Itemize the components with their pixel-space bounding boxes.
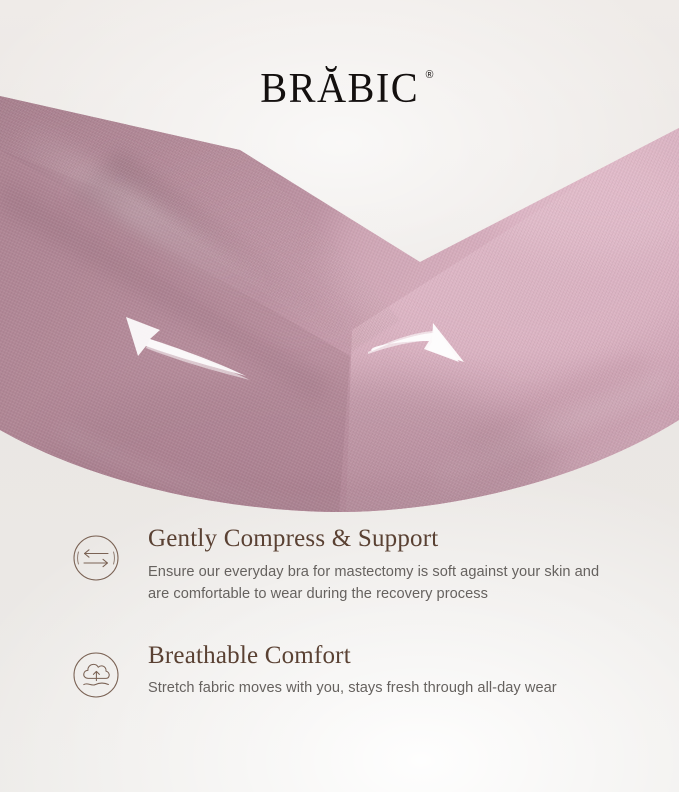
feature-item: Breathable Comfort Stretch fabric moves … <box>0 641 679 700</box>
feature-description: Stretch fabric moves with you, stays fre… <box>148 677 618 699</box>
feature-text-block: Breathable Comfort Stretch fabric moves … <box>148 641 635 700</box>
brand-name: BRĂBIC <box>260 66 419 112</box>
brand-logo: BRĂBIC® <box>0 68 679 110</box>
compress-arrows-icon <box>72 534 120 582</box>
breathable-cloud-icon <box>72 651 120 699</box>
feature-text-block: Gently Compress & Support Ensure our eve… <box>148 524 635 605</box>
feature-title: Gently Compress & Support <box>148 524 635 554</box>
brand-logo-text: BRĂBIC® <box>260 68 419 110</box>
feature-list: Gently Compress & Support Ensure our eve… <box>0 524 679 700</box>
product-feature-banner: BRĂBIC® Gently Compress & Su <box>0 0 679 792</box>
registered-trademark-icon: ® <box>425 70 433 81</box>
feature-item: Gently Compress & Support Ensure our eve… <box>0 524 679 605</box>
feature-title: Breathable Comfort <box>148 641 635 671</box>
feature-description: Ensure our everyday bra for mastectomy i… <box>148 561 618 605</box>
